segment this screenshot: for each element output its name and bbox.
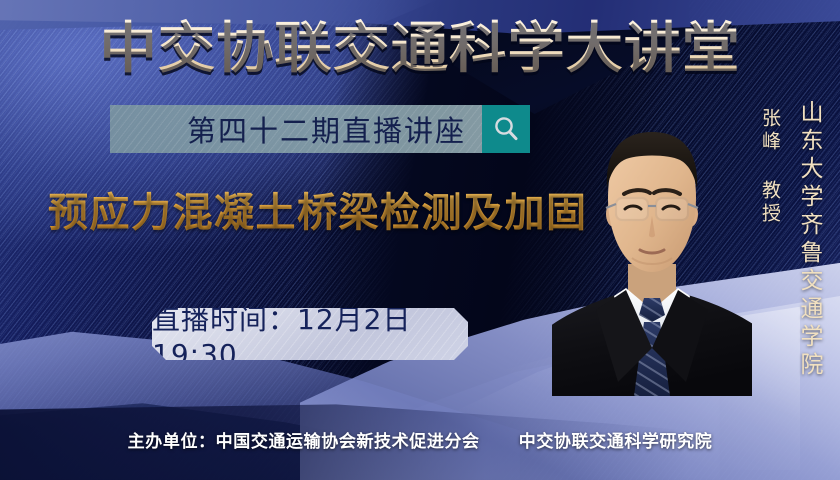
- speaker-portrait: [552, 96, 752, 396]
- speaker-portrait-illustration: [552, 96, 752, 396]
- speaker-name: 张峰 教授: [757, 108, 784, 226]
- speaker-affiliation: 山东大学齐鲁交通学院: [792, 100, 826, 380]
- footer-organizer-secondary: 中交协联交通科学研究院: [519, 432, 713, 452]
- lecture-title: 预应力混凝土桥梁检测及加固: [48, 186, 588, 240]
- footer-organizer-primary: 主办单位：中国交通运输协会新技术促进分会: [128, 432, 480, 452]
- session-bar-plate: 第四十二期直播讲座: [110, 105, 482, 153]
- search-icon-glyph: [491, 114, 521, 144]
- lecture-poster: 中交协联交通科学大讲堂 中交协联交通科学大讲堂 第四十二期直播讲座 预应力混凝土…: [0, 0, 840, 480]
- broadcast-time-badge: 直播时间：12月2日19:30: [152, 308, 468, 360]
- session-bar-label: 第四十二期直播讲座: [187, 108, 466, 150]
- session-bar: 第四十二期直播讲座: [110, 105, 530, 153]
- search-icon[interactable]: [482, 105, 530, 153]
- main-title: 中交协联交通科学大讲堂: [0, 16, 840, 80]
- footer-organizers: 主办单位：中国交通运输协会新技术促进分会 中交协联交通科学研究院: [0, 427, 840, 452]
- broadcast-time-label: 直播时间：12月2日19:30: [152, 298, 468, 371]
